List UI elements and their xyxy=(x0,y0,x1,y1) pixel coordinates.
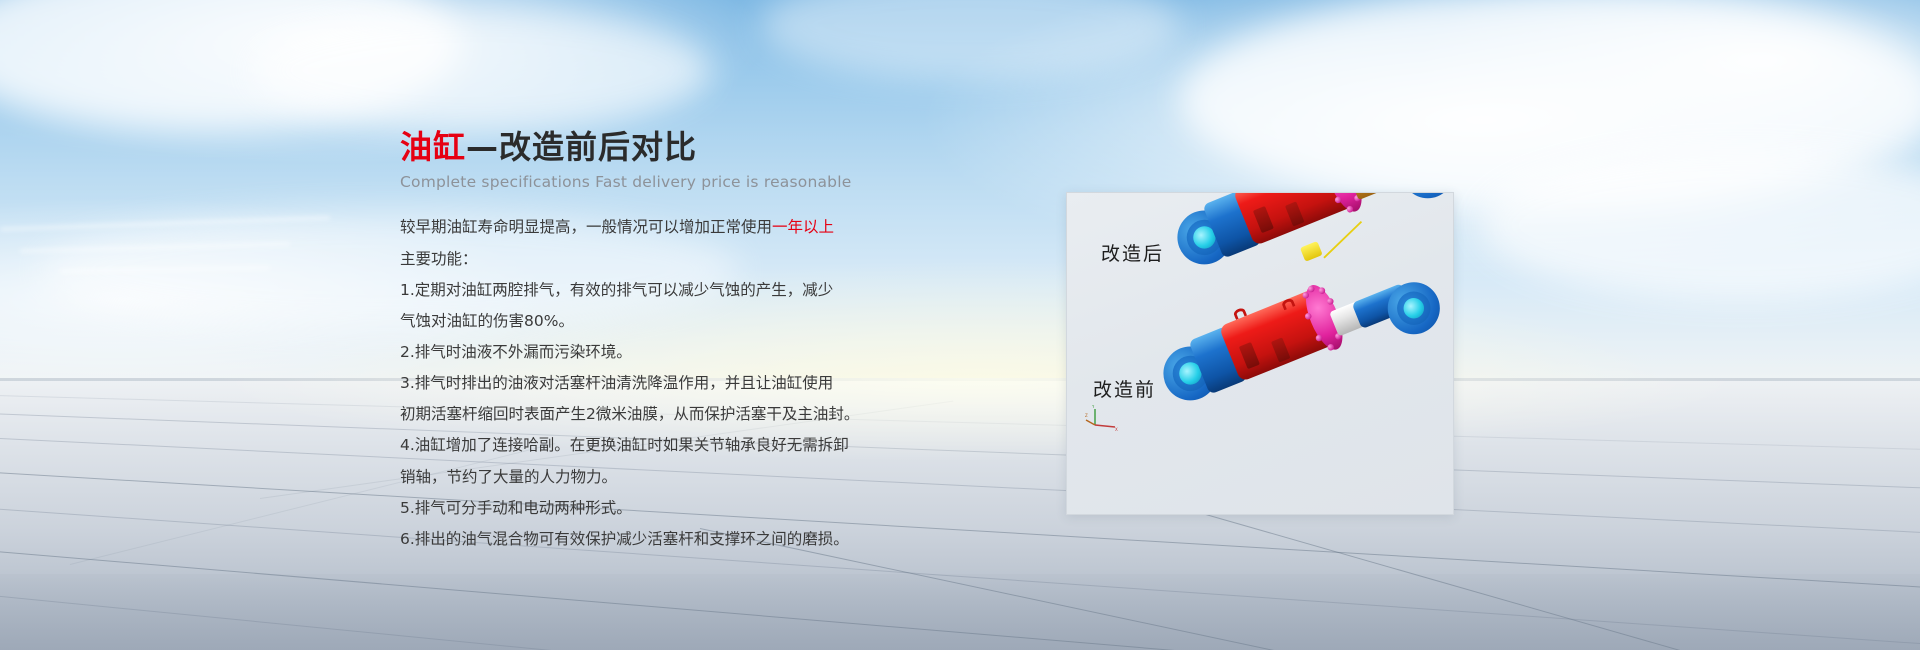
horizon-line xyxy=(0,378,1920,381)
title-rest: —改造前后对比 xyxy=(466,128,697,166)
list-item: 2.排气时油液不外漏而污染环境。 xyxy=(400,337,960,368)
cloud-shape xyxy=(760,0,1180,80)
svg-text:X: X xyxy=(1115,427,1118,432)
sky-background xyxy=(0,0,1920,430)
hero-banner: 油缸—改造前后对比 Complete specifications Fast d… xyxy=(0,0,1920,650)
page-subtitle: Complete specifications Fast delivery pr… xyxy=(400,173,960,191)
pavement-line xyxy=(0,506,1920,650)
pavement-line xyxy=(0,470,1920,596)
title-highlight: 油缸 xyxy=(400,128,466,166)
intro-line: 较早期油缸寿命明显提高，一般情况可以增加正常使用一年以上 xyxy=(400,212,960,243)
list-item: 气蚀对油缸的伤害80%。 xyxy=(400,306,960,337)
vent-tube xyxy=(1323,221,1362,259)
list-item: 4.油缸增加了连接哈副。在更换油缸时如果关节轴承良好无需拆卸 xyxy=(400,430,960,461)
intro-text: 较早期油缸寿命明显提高，一般情况可以增加正常使用 xyxy=(400,218,772,236)
list-item: 1.定期对油缸两腔排气，有效的排气可以减少气蚀的产生，减少 xyxy=(400,275,960,306)
list-item: 6.排出的油气混合物可有效保护减少活塞杆和支撑环之间的磨损。 xyxy=(400,524,960,555)
pavement-seam xyxy=(1150,498,1920,650)
feature-list: 较早期油缸寿命明显提高，一般情况可以增加正常使用一年以上 主要功能： 1.定期对… xyxy=(400,212,960,555)
functions-heading: 主要功能： xyxy=(400,244,960,275)
product-image-panel: 改造后 改造前 Y X Z xyxy=(1066,192,1454,515)
pavement-line xyxy=(0,412,1920,494)
intro-highlight: 一年以上 xyxy=(772,218,834,236)
list-item: 5.排气可分手动和电动两种形式。 xyxy=(400,493,960,524)
pavement-line xyxy=(0,548,1920,650)
page-title: 油缸—改造前后对比 xyxy=(400,128,960,166)
pavement-line xyxy=(0,394,1920,454)
svg-text:Z: Z xyxy=(1085,413,1088,418)
pavement-line xyxy=(0,592,1920,650)
cad-axis-indicator: Y X Z xyxy=(1085,405,1119,433)
ground-plane xyxy=(0,378,1920,650)
list-item: 3.排气时排出的油液对活塞杆油清洗降温作用，并且让油缸使用 xyxy=(400,368,960,399)
cloud-shape xyxy=(250,10,710,130)
vent-valve-block xyxy=(1300,241,1323,262)
label-before-modification: 改造前 xyxy=(1093,375,1156,402)
label-after-modification: 改造后 xyxy=(1101,239,1164,266)
ground-shade xyxy=(0,574,1920,650)
svg-text:Y: Y xyxy=(1091,405,1095,409)
pavement-line xyxy=(0,436,1920,540)
list-item: 初期活塞杆缩回时表面产生2微米油膜，从而保护活塞干及主油封。 xyxy=(400,399,960,430)
eye-outer xyxy=(1394,192,1454,206)
banner-copy: 油缸—改造前后对比 Complete specifications Fast d… xyxy=(400,128,960,555)
list-item: 销轴，节约了大量的人力物力。 xyxy=(400,462,960,493)
